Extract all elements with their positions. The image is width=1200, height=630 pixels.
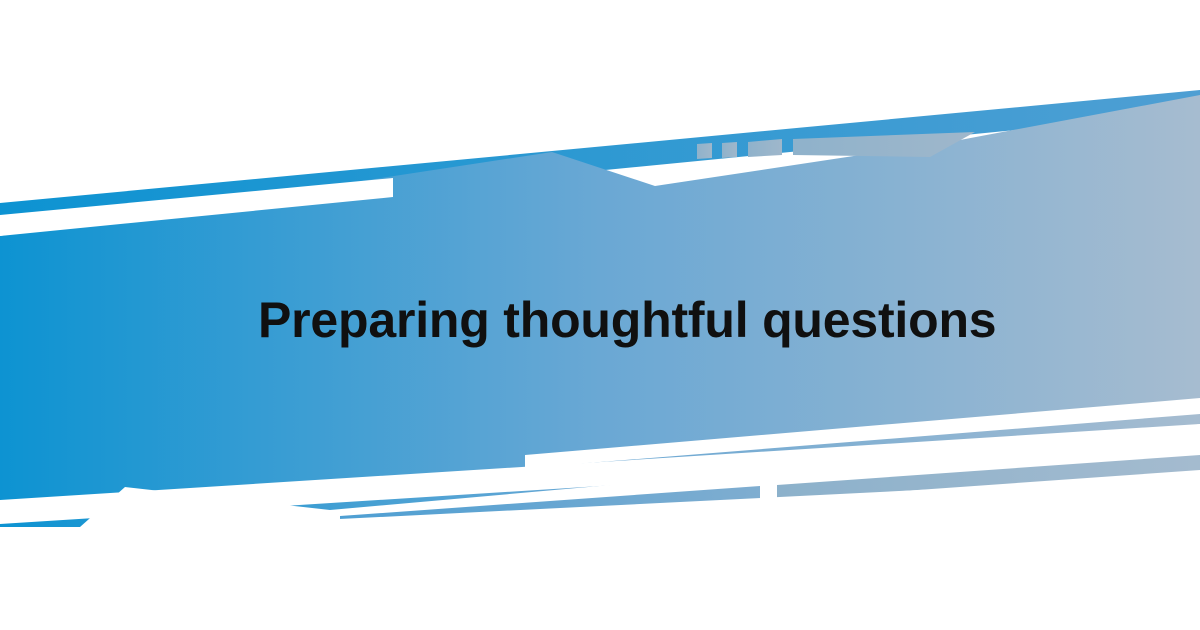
banner-graphic <box>0 0 1200 630</box>
banner-root: Preparing thoughtful questions <box>0 0 1200 630</box>
top-dash-3-shape <box>748 139 782 157</box>
top-dash-2-shape <box>722 142 737 158</box>
top-dash-1-shape <box>697 143 712 159</box>
